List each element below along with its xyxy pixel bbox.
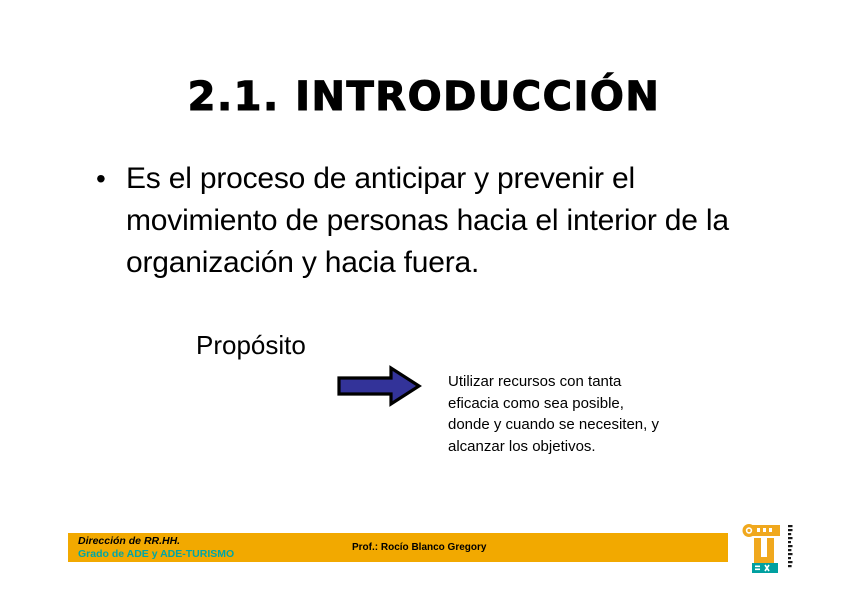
- footer-bar: Dirección de RR.HH. Grado de ADE y ADE-T…: [68, 533, 728, 562]
- footer-course-title: Dirección de RR.HH.: [78, 535, 234, 548]
- footer-left-text: Dirección de RR.HH. Grado de ADE y ADE-T…: [78, 535, 234, 561]
- detail-line: eficacia como sea posible,: [448, 393, 698, 415]
- uex-logo: [742, 519, 804, 579]
- page-title: 2.1. INTRODUCCIÓN: [0, 74, 848, 120]
- bullet-text: Es el proceso de anticipar y prevenir el…: [126, 158, 736, 284]
- proposito-label: Propósito: [196, 329, 306, 361]
- detail-line: donde y cuando se necesiten, y: [448, 414, 698, 436]
- slide-canvas: 2.1. INTRODUCCIÓN • Es el proceso de ant…: [0, 0, 848, 599]
- bullet-marker-icon: •: [96, 158, 126, 200]
- bullet-list-item: • Es el proceso de anticipar y prevenir …: [96, 158, 736, 284]
- detail-line: Utilizar recursos con tanta: [448, 371, 698, 393]
- right-arrow-icon: [336, 365, 422, 407]
- detail-paragraph: Utilizar recursos con tanta eficacia com…: [448, 371, 698, 457]
- footer-professor: Prof.: Rocío Blanco Gregory: [352, 541, 486, 554]
- detail-line: alcanzar los objetivos.: [448, 436, 698, 458]
- footer-degree-title: Grado de ADE y ADE-TURISMO: [78, 548, 234, 561]
